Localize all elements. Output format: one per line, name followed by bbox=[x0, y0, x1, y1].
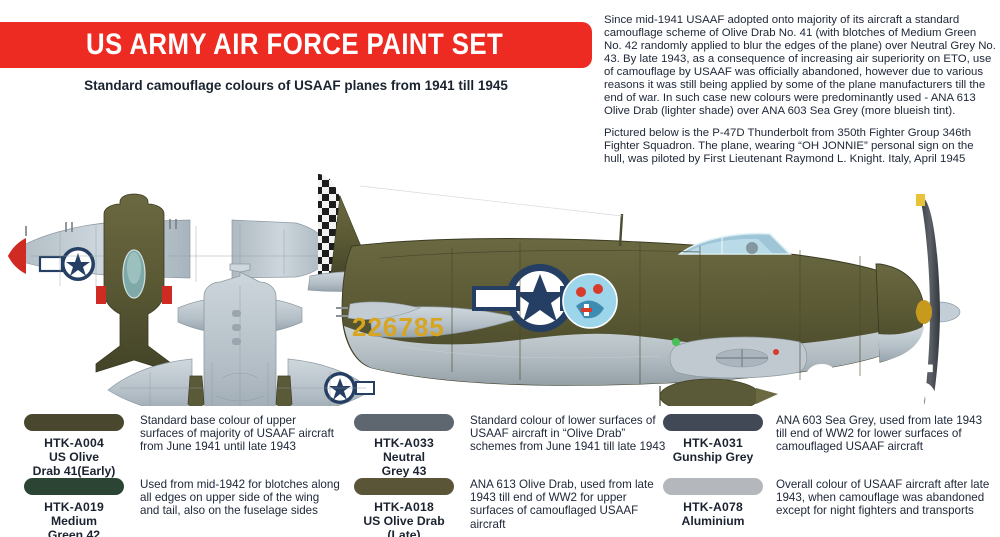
paint-chip-htk-a004 bbox=[24, 414, 124, 431]
swatch-entry-htk-a078[interactable]: HTK-A078 Aluminium Overall colour of USA… bbox=[660, 474, 996, 528]
swatch-description: ANA 613 Olive Drab, used from late 1943 … bbox=[460, 474, 670, 537]
swatch-name-line-1: Gunship Grey bbox=[660, 450, 766, 464]
swatch-entry-htk-a033[interactable]: HTK-A033 Neutral Grey 43 Standard colour… bbox=[348, 410, 670, 478]
page-title: US ARMY AIR FORCE PAINT SET bbox=[74, 28, 503, 62]
swatch-column-2: HTK-A033 Neutral Grey 43 Standard colour… bbox=[348, 406, 670, 537]
title-banner: US ARMY AIR FORCE PAINT SET bbox=[0, 22, 592, 68]
cowling-code-text: 6D5 bbox=[800, 349, 939, 406]
swatch-chip-box: HTK-A018 US Olive Drab (Late) bbox=[348, 474, 460, 537]
swatch-name-line-1: Neutral bbox=[348, 450, 460, 464]
paint-chip-htk-a033 bbox=[354, 414, 454, 431]
swatch-code: HTK-A031 bbox=[660, 436, 766, 450]
swatch-entry-htk-a004[interactable]: HTK-A004 US Olive Drab 41(Early) Standar… bbox=[18, 410, 340, 478]
tail-number-text: 226785 bbox=[352, 312, 445, 342]
swatch-name-line-1: Aluminium bbox=[660, 514, 766, 528]
swatch-code: HTK-A019 bbox=[18, 500, 130, 514]
swatch-name-line-1: US Olive bbox=[18, 450, 130, 464]
swatch-description: Standard colour of lower surfaces of USA… bbox=[460, 410, 670, 478]
swatch-code: HTK-A018 bbox=[348, 500, 460, 514]
paint-swatch-footer: HTK-A004 US Olive Drab 41(Early) Standar… bbox=[0, 406, 1000, 537]
swatch-entry-htk-a019[interactable]: HTK-A019 Medium Green 42 Used from mid-1… bbox=[18, 474, 340, 537]
swatch-column-1: HTK-A004 US Olive Drab 41(Early) Standar… bbox=[18, 406, 340, 537]
top-plan-view bbox=[8, 194, 330, 384]
swatch-description: Used from mid-1942 for blotches along al… bbox=[130, 474, 340, 537]
swatch-chip-box: HTK-A019 Medium Green 42 bbox=[18, 474, 130, 537]
side-profile-view: 226785 6D5 bbox=[308, 174, 960, 406]
paint-chip-htk-a018 bbox=[354, 478, 454, 495]
swatch-name-line-1: US Olive Drab bbox=[348, 514, 460, 528]
swatch-name-line-2: (Late) bbox=[348, 528, 460, 537]
swatch-chip-box: HTK-A033 Neutral Grey 43 bbox=[348, 410, 460, 478]
swatch-chip-box: HTK-A078 Aluminium bbox=[660, 474, 766, 528]
swatch-chip-box: HTK-A031 Gunship Grey bbox=[660, 410, 766, 464]
swatch-code: HTK-A033 bbox=[348, 436, 460, 450]
swatch-code: HTK-A078 bbox=[660, 500, 766, 514]
swatch-entry-htk-a018[interactable]: HTK-A018 US Olive Drab (Late) ANA 613 Ol… bbox=[348, 474, 670, 537]
swatch-chip-box: HTK-A004 US Olive Drab 41(Early) bbox=[18, 410, 130, 478]
paint-chip-htk-a019 bbox=[24, 478, 124, 495]
swatch-name-line-2: Green 42 bbox=[18, 528, 130, 537]
swatch-entry-htk-a031[interactable]: HTK-A031 Gunship Grey ANA 603 Sea Grey, … bbox=[660, 410, 996, 464]
paint-chip-htk-a078 bbox=[663, 478, 763, 495]
paint-set-infosheet: US ARMY AIR FORCE PAINT SET Standard cam… bbox=[0, 0, 1000, 537]
swatch-description: Overall colour of USAAF aircraft after l… bbox=[766, 474, 996, 528]
swatch-column-3: HTK-A031 Gunship Grey ANA 603 Sea Grey, … bbox=[660, 406, 996, 537]
page-subtitle: Standard camouflage colours of USAAF pla… bbox=[0, 78, 592, 93]
paint-chip-htk-a031 bbox=[663, 414, 763, 431]
swatch-description: ANA 603 Sea Grey, used from late 1943 ti… bbox=[766, 410, 996, 464]
swatch-name-line-1: Medium bbox=[18, 514, 130, 528]
swatch-description: Standard base colour of upper surfaces o… bbox=[130, 410, 340, 478]
swatch-code: HTK-A004 bbox=[18, 436, 130, 450]
aircraft-illustration-stage: 226785 6D5 bbox=[0, 96, 1000, 406]
